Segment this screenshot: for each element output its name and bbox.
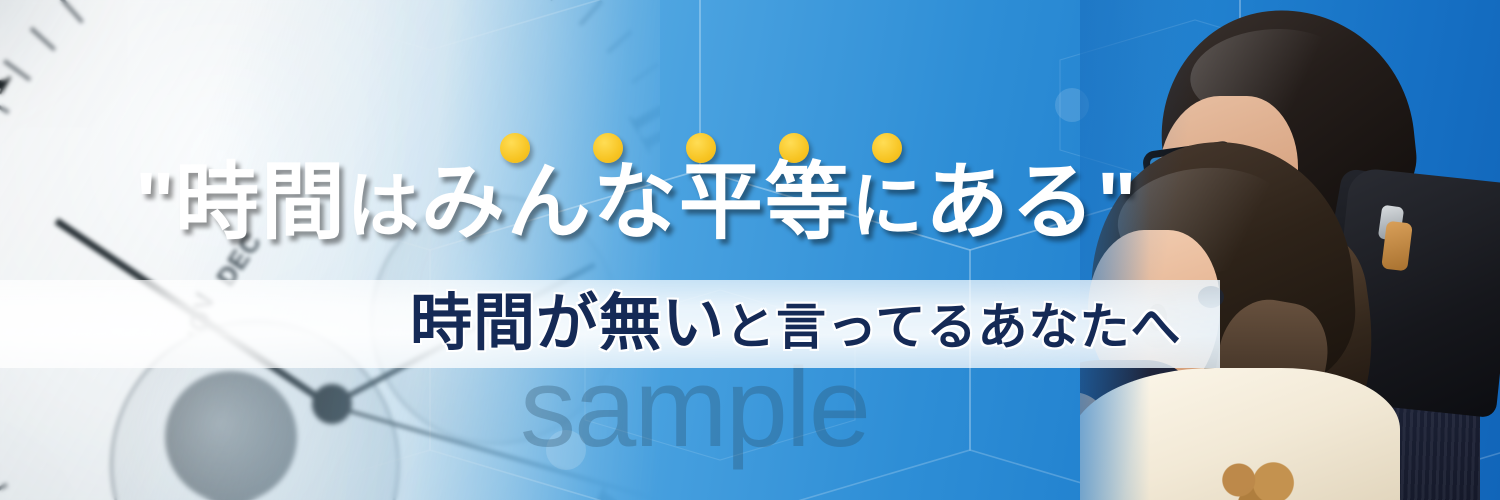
headline-part-3: みんな (421, 153, 679, 251)
headline-open-quote: " (135, 155, 175, 249)
emphasis-dot-5 (872, 133, 902, 163)
page-title: "時間はみんな平等にある" (135, 160, 1137, 244)
headline-part-6: ある (925, 153, 1097, 251)
headline-part-1: 時間 (175, 153, 347, 251)
hero-banner: XIIIIIIIIIIIIVVIVIIVIIIIXXXI MAYJUNJULAU… (0, 0, 1500, 500)
subtitle: 時間が無いと言ってるあなたへ (410, 292, 1182, 354)
subtitle-part-2: と言ってるあなたへ (725, 298, 1182, 356)
headline-part-5: に (851, 164, 925, 248)
subtitle-part-1: 時間が無い (410, 286, 725, 359)
headline-close-quote: " (1097, 155, 1137, 249)
headline-part-2: は (347, 164, 421, 248)
headline-part-4: 平等 (679, 153, 851, 251)
